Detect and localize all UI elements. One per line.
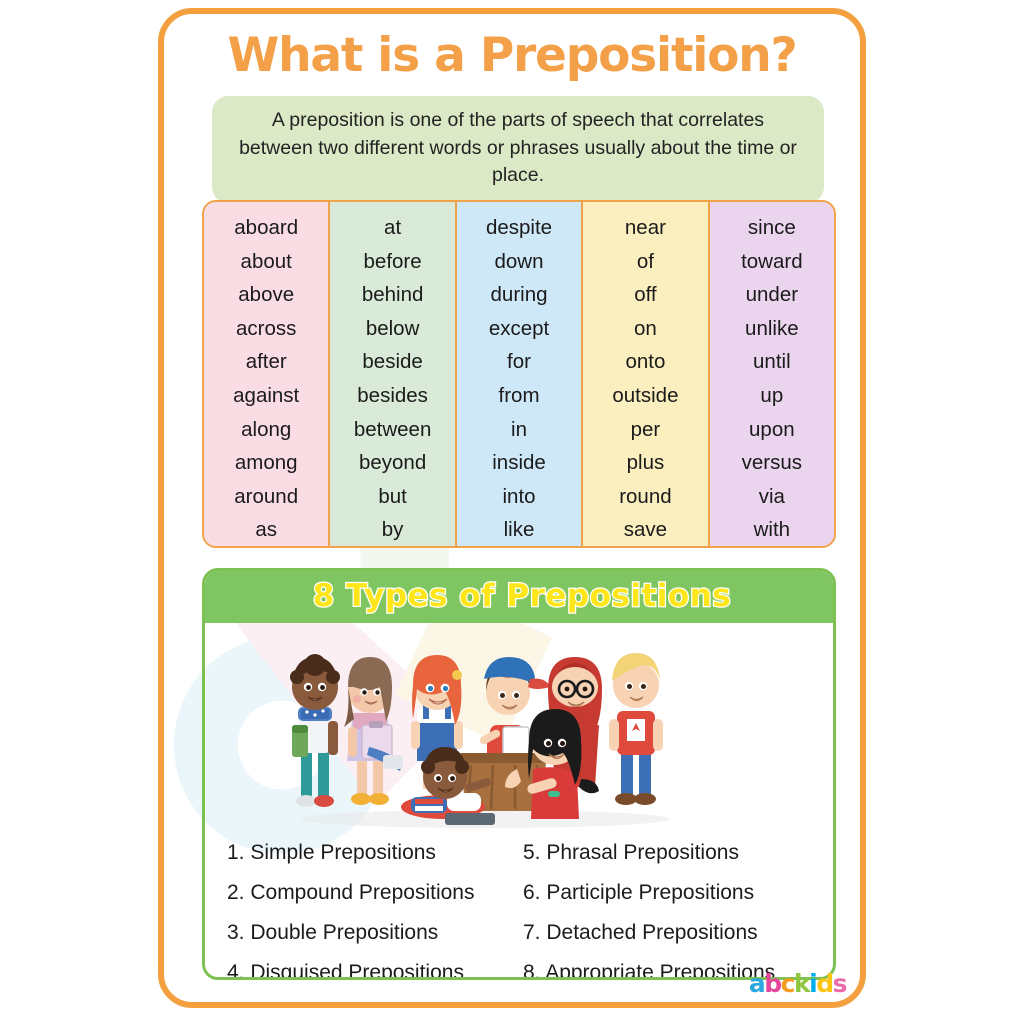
child-2 bbox=[344, 657, 403, 805]
types-section: 8 Types of Prepositions bbox=[202, 568, 836, 980]
preposition-column-5: since toward under unlike until up upon … bbox=[710, 202, 834, 546]
logo-letter-c: c bbox=[781, 969, 794, 998]
preposition-word: before bbox=[364, 245, 422, 279]
preposition-word: between bbox=[354, 413, 432, 447]
preposition-word: as bbox=[255, 513, 277, 547]
page-title: What is a Preposition? bbox=[164, 28, 860, 83]
logo-letter-i: i bbox=[809, 969, 816, 998]
list-item: 1. Simple Prepositions bbox=[227, 833, 523, 873]
preposition-word: among bbox=[235, 446, 298, 480]
types-header-bar: 8 Types of Prepositions bbox=[202, 568, 836, 623]
kids-illustration bbox=[265, 629, 705, 829]
preposition-word: versus bbox=[742, 446, 802, 480]
preposition-word: on bbox=[634, 312, 657, 346]
preposition-word: unlike bbox=[745, 312, 799, 346]
preposition-word: up bbox=[760, 379, 783, 413]
logo-letter-k: k bbox=[794, 969, 809, 998]
list-item: 6. Participle Prepositions bbox=[523, 873, 819, 913]
preposition-word: beyond bbox=[359, 446, 426, 480]
preposition-word: outside bbox=[612, 379, 678, 413]
preposition-word: upon bbox=[749, 413, 795, 447]
preposition-word: of bbox=[637, 245, 654, 279]
preposition-word: against bbox=[233, 379, 299, 413]
preposition-word: since bbox=[748, 211, 796, 245]
preposition-word: by bbox=[382, 513, 404, 547]
list-item: 3. Double Prepositions bbox=[227, 913, 523, 953]
preposition-word: inside bbox=[492, 446, 546, 480]
preposition-word: into bbox=[502, 480, 535, 514]
preposition-word: about bbox=[241, 245, 292, 279]
preposition-word: despite bbox=[486, 211, 552, 245]
list-item: 5. Phrasal Prepositions bbox=[523, 833, 819, 873]
logo-letter-d: d bbox=[816, 969, 832, 998]
preposition-column-2: at before behind below beside besides be… bbox=[330, 202, 456, 546]
logo-letter-b: b bbox=[764, 969, 780, 998]
preposition-word: during bbox=[491, 278, 548, 312]
preposition-word: like bbox=[504, 513, 535, 547]
child-6 bbox=[609, 653, 663, 805]
preposition-word: until bbox=[753, 345, 791, 379]
preposition-word: near bbox=[625, 211, 666, 245]
preposition-word: onto bbox=[625, 345, 665, 379]
types-list: 1. Simple Prepositions 5. Phrasal Prepos… bbox=[205, 833, 833, 980]
preposition-word: across bbox=[236, 312, 296, 346]
preposition-word: under bbox=[746, 278, 798, 312]
preposition-word: behind bbox=[362, 278, 424, 312]
preposition-word: from bbox=[499, 379, 540, 413]
types-header-title: 8 Types of Prepositions bbox=[313, 578, 731, 614]
preposition-word: after bbox=[246, 345, 287, 379]
preposition-word: with bbox=[754, 513, 790, 547]
abckids-logo: abckids bbox=[749, 969, 846, 998]
child-1 bbox=[290, 654, 340, 807]
preposition-word: but bbox=[378, 480, 407, 514]
preposition-word: plus bbox=[627, 446, 665, 480]
preposition-word: at bbox=[384, 211, 401, 245]
list-item: 7. Detached Prepositions bbox=[523, 913, 819, 953]
preposition-column-4: near of off on onto outside per plus rou… bbox=[583, 202, 709, 546]
poster-frame: What is a Preposition? A preposition is … bbox=[158, 8, 866, 1008]
preposition-word: below bbox=[366, 312, 420, 346]
preposition-word: above bbox=[238, 278, 294, 312]
list-item: 2. Compound Prepositions bbox=[227, 873, 523, 913]
preposition-word: for bbox=[507, 345, 531, 379]
logo-letter-s: s bbox=[833, 969, 846, 998]
prepositions-table: aboard about above across after against … bbox=[202, 200, 836, 548]
preposition-word: via bbox=[759, 480, 785, 514]
preposition-word: besides bbox=[357, 379, 428, 413]
preposition-word: round bbox=[619, 480, 671, 514]
preposition-word: toward bbox=[741, 245, 803, 279]
preposition-word: off bbox=[634, 278, 656, 312]
preposition-word: aboard bbox=[234, 211, 298, 245]
preposition-column-3: despite down during except for from in i… bbox=[457, 202, 583, 546]
logo-letter-a: a bbox=[749, 969, 764, 998]
preposition-word: around bbox=[234, 480, 298, 514]
list-item: 4. Disguised Prepositions bbox=[227, 953, 523, 980]
preposition-word: per bbox=[631, 413, 661, 447]
preposition-word: down bbox=[495, 245, 544, 279]
preposition-column-1: aboard about above across after against … bbox=[204, 202, 330, 546]
definition-box: A preposition is one of the parts of spe… bbox=[212, 96, 824, 203]
preposition-word: except bbox=[489, 312, 549, 346]
preposition-word: save bbox=[624, 513, 667, 547]
preposition-word: in bbox=[511, 413, 527, 447]
preposition-word: along bbox=[241, 413, 291, 447]
preposition-word: beside bbox=[362, 345, 422, 379]
